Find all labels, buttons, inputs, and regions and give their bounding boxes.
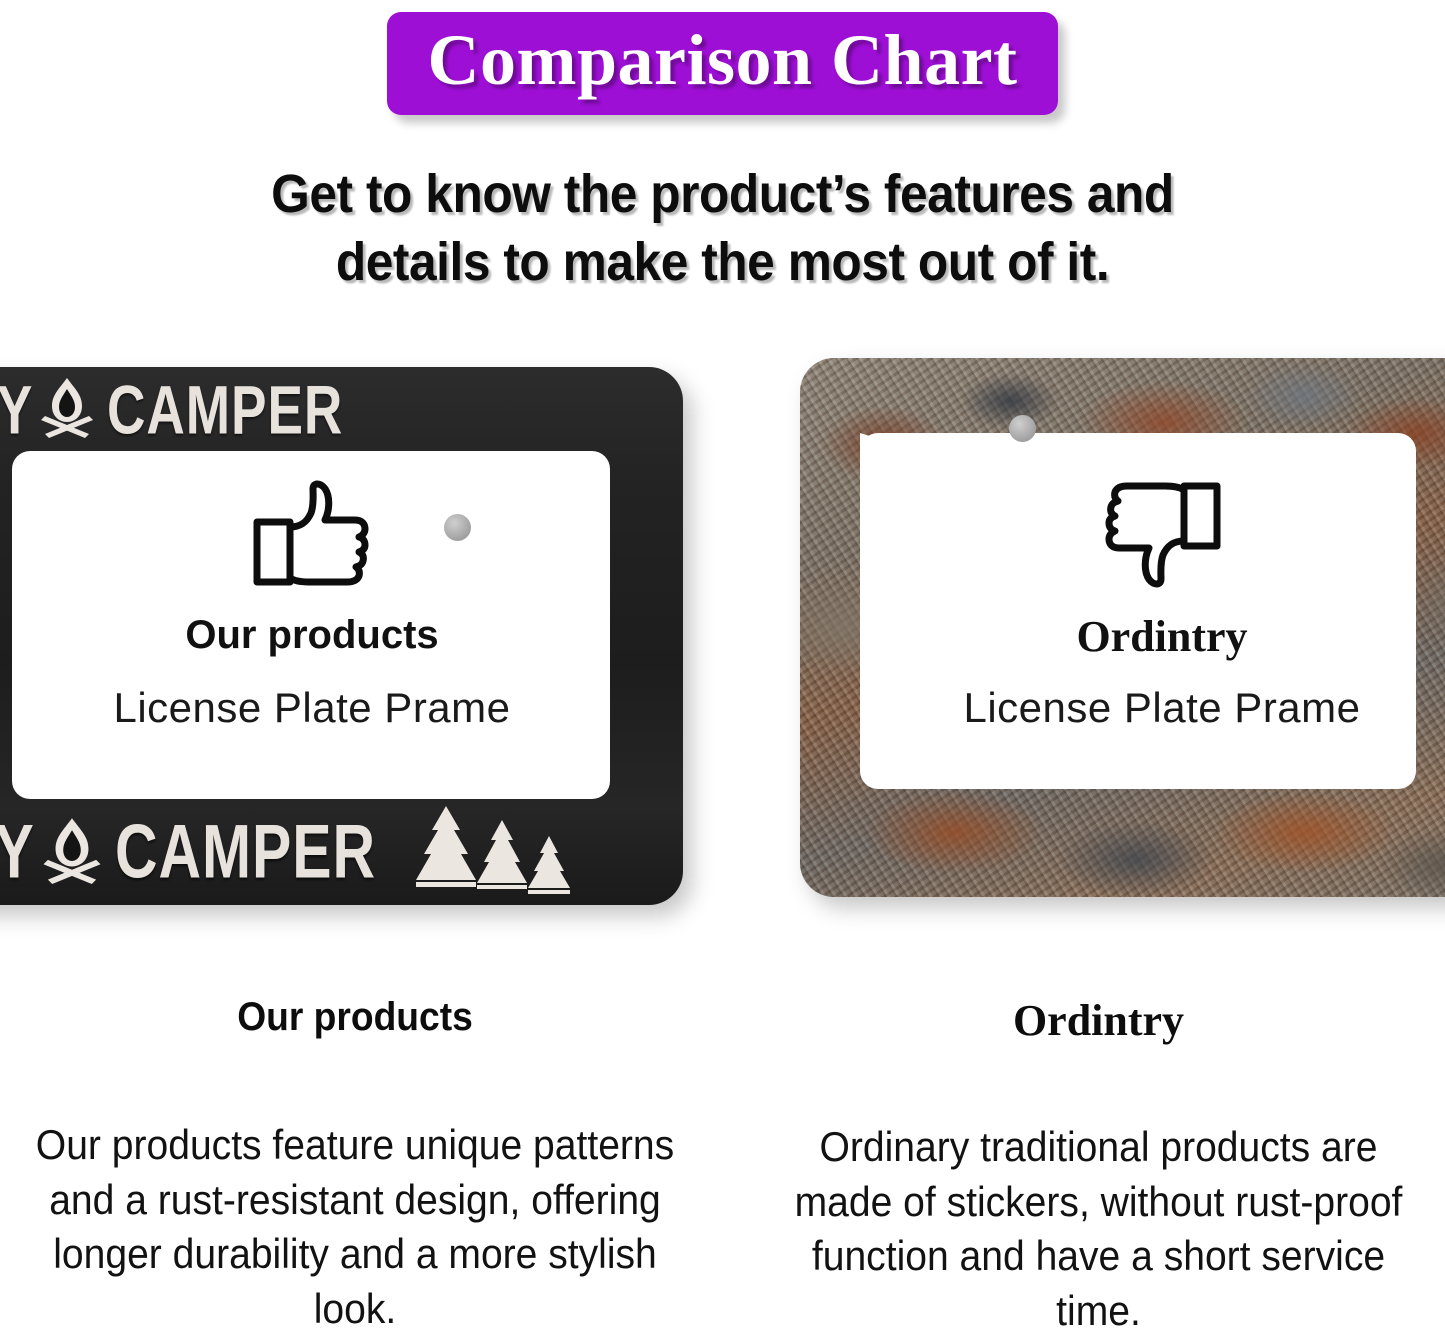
our-product-desc-heading: Our products <box>34 995 676 1040</box>
subtitle-line-2: details to make the most out of it. <box>58 228 1387 296</box>
title-banner-container: Comparison Chart <box>0 12 1445 115</box>
our-product-desc-body: Our products feature unique patterns and… <box>34 1118 676 1336</box>
subtitle-line-1: Get to know the product’s features and <box>58 160 1387 228</box>
plate-top-text-left: PPY <box>0 369 33 448</box>
title-banner: Comparison Chart <box>387 12 1057 115</box>
plate-bottom-band: PPY CAMPER <box>0 799 683 905</box>
plate-top-band: PPY CAMPER <box>0 367 683 451</box>
our-product-verdict-block: Our products License Plate Prame <box>12 480 612 732</box>
thumbs-down-icon <box>862 478 1445 593</box>
ordinary-product-verdict-block: Ordintry License Plate Prame <box>862 478 1445 732</box>
ordinary-product-desc-body: Ordinary traditional products are made o… <box>776 1120 1420 1338</box>
pine-trees-icon <box>404 804 574 901</box>
thumbs-up-icon <box>12 480 612 595</box>
plate-window-chamfer <box>860 433 1010 479</box>
our-product-description-column: Our products Our products feature unique… <box>10 995 700 1336</box>
plate-top-text-right: CAMPER <box>107 369 343 448</box>
our-product-sublabel: License Plate Prame <box>12 684 612 732</box>
page-title: Comparison Chart <box>427 20 1017 101</box>
ordinary-product-label: Ordintry <box>862 611 1445 662</box>
ordinary-product-desc-heading: Ordintry <box>752 995 1445 1046</box>
plate-screw-hole <box>1009 415 1036 442</box>
plate-bottom-text-right: CAMPER <box>115 809 376 896</box>
ordinary-product-sublabel: License Plate Prame <box>862 684 1445 732</box>
campfire-icon <box>41 816 103 889</box>
campfire-icon <box>39 376 95 443</box>
our-product-label: Our products <box>12 613 612 658</box>
plate-bottom-text-left: PPY <box>0 809 35 896</box>
product-frames-row: PPY CAMPER PPY <box>0 0 1445 940</box>
ordinary-product-description-column: Ordintry Ordinary traditional products a… <box>752 995 1445 1338</box>
page-subtitle: Get to know the product’s features and d… <box>58 160 1387 296</box>
